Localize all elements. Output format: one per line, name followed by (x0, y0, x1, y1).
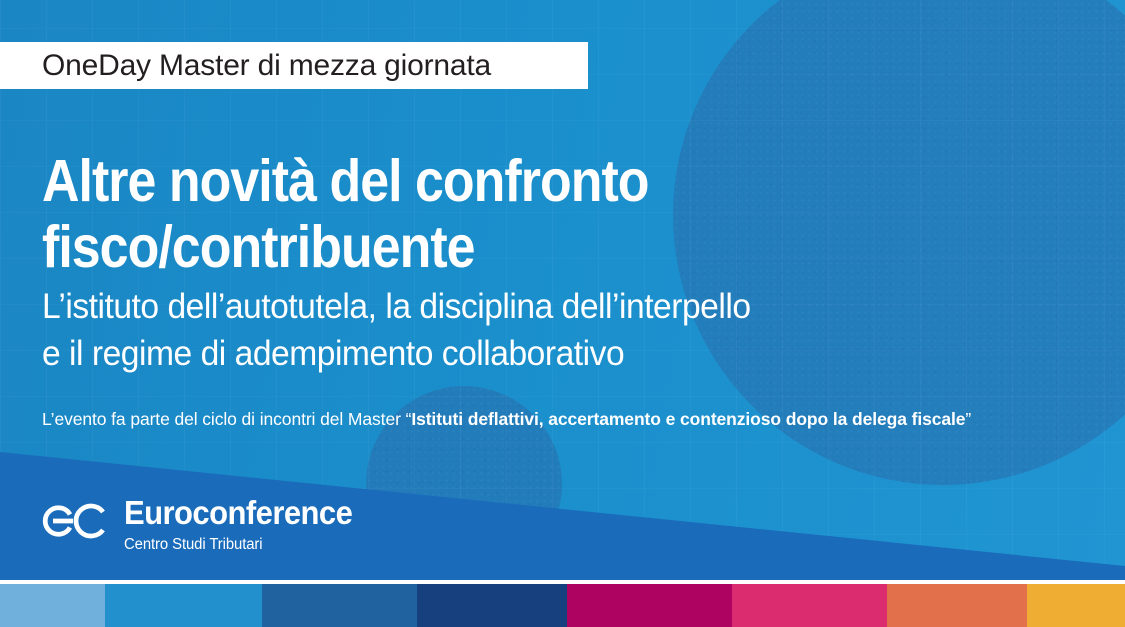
kicker-badge: OneDay Master di mezza giornata (0, 42, 588, 89)
swatch-magenta (567, 584, 732, 627)
banner-content: OneDay Master di mezza giornata Altre no… (0, 0, 1125, 627)
note-emphasis: Istituti deflattivi, accertamento e cont… (411, 409, 965, 429)
note-trail: ” (965, 409, 971, 429)
logo-wordmark: Euroconference Centro Studi Tributari (124, 496, 367, 553)
note-lead: L’evento fa parte del ciclo di incontri … (42, 409, 411, 429)
logo-tagline: Centro Studi Tributari (124, 537, 357, 553)
page-subtitle: L’istituto dell’autotutela, la disciplin… (42, 284, 1040, 377)
swatch-orange (887, 584, 1027, 627)
swatch-navy (417, 584, 567, 627)
swatch-amber (1027, 584, 1125, 627)
logo-name: Euroconference (124, 496, 352, 529)
brand-color-strip (0, 584, 1125, 627)
kicker-label: OneDay Master di mezza giornata (0, 49, 491, 83)
swatch-steel-blue (262, 584, 417, 627)
page-title: Altre novità del confronto fisco/contrib… (42, 148, 816, 281)
swatch-blue (105, 584, 262, 627)
swatch-pink (732, 584, 887, 627)
ec-monogram-icon (42, 497, 112, 545)
euroconference-logo: Euroconference Centro Studi Tributari (42, 496, 367, 553)
swatch-light-blue (0, 584, 105, 627)
master-series-note: L’evento fa parte del ciclo di incontri … (42, 406, 992, 433)
event-promo-banner: OneDay Master di mezza giornata Altre no… (0, 0, 1125, 627)
